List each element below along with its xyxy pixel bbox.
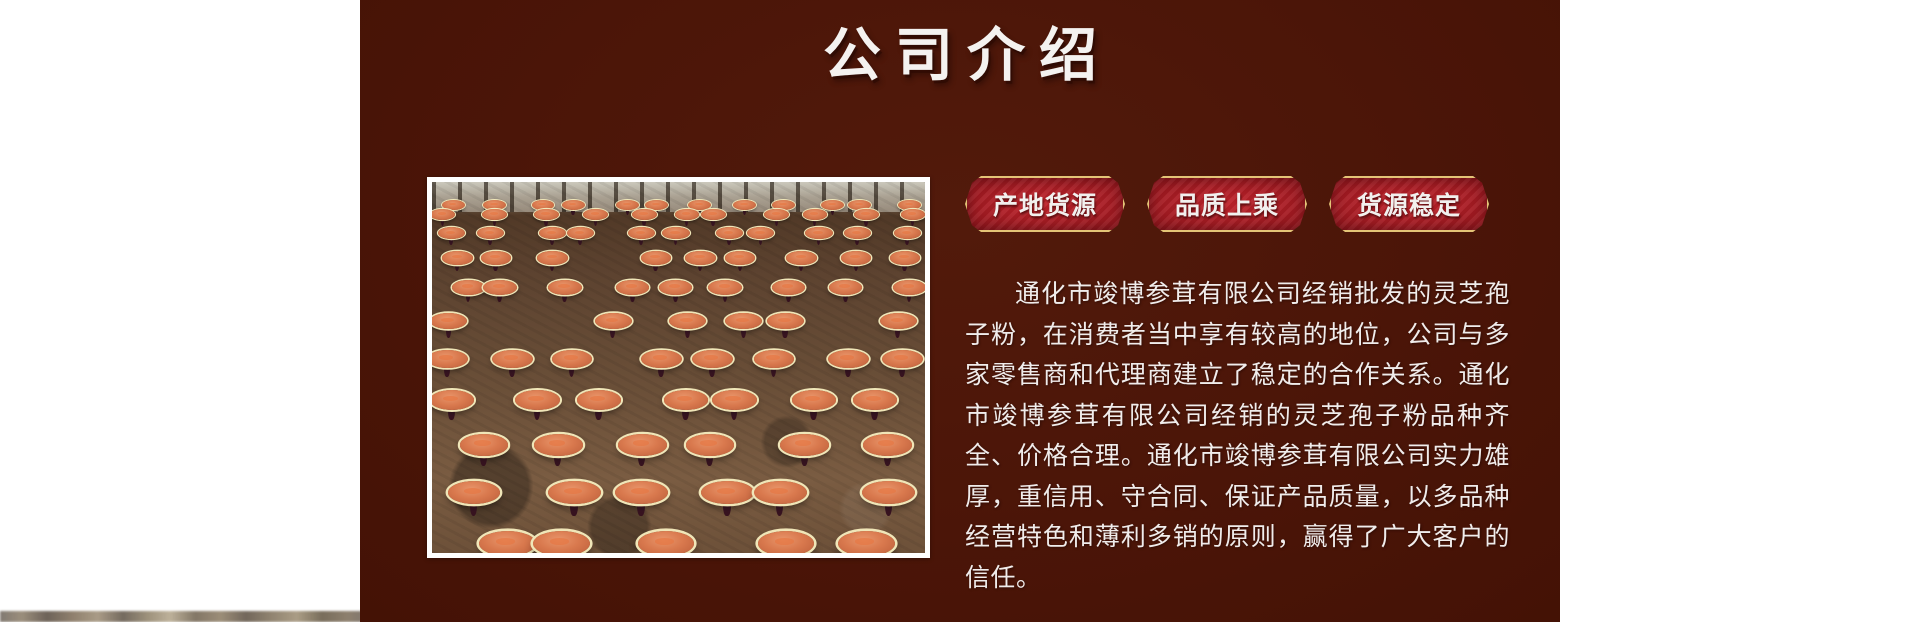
mushroom-cap [483,280,517,295]
mushroom-cap [716,227,743,239]
page-root: 公司介绍 产地货源 品质上乘 [0,0,1920,622]
badge-bracket-left-icon [1133,176,1149,232]
mushroom-cap [595,313,632,329]
mushroom-caps [432,182,925,553]
mushroom-cap [448,481,501,504]
mushroom-cap [638,531,695,553]
feature-badge-label: 产地货源 [993,186,1097,222]
mushroom-cap [438,227,465,239]
mushroom-cap [567,227,594,239]
mushroom-cap [854,209,879,220]
mushroom-cap [725,251,755,264]
company-intro-paragraph: 通化市竣博参茸有限公司经销批发的灵芝孢子粉，在消费者当中享有较高的地位，公司与多… [965,274,1510,598]
company-intro-panel: 公司介绍 产地货源 品质上乘 [360,0,1560,622]
mushroom-cap [758,531,815,553]
badge-bracket-left-icon [1315,176,1331,232]
mushroom-cap [664,390,709,410]
mushroom-cap [882,350,923,368]
mushroom-cap [692,350,733,368]
mushroom-cap [853,390,898,410]
mushroom-cap [552,350,593,368]
mushroom-cap [534,209,559,220]
mushroom-cap [890,251,920,264]
mushroom-cap [863,434,912,455]
mushroom-cap [754,350,795,368]
mushroom-cap [618,434,667,455]
photo-frame [427,177,930,558]
mushroom-cap [747,227,774,239]
mushroom-cap [628,227,655,239]
mushroom-cap [893,280,925,295]
mushroom-cap [537,251,567,264]
feature-badge-2[interactable]: 货源稳定 [1329,176,1489,232]
mushroom-cap [780,434,829,455]
mushroom-cap [828,350,869,368]
feature-badge-1[interactable]: 品质上乘 [1147,176,1307,232]
mushroom-cap [577,390,622,410]
mushroom-cap [442,251,472,264]
bottom-image-strip [0,611,362,622]
mushroom-cap [701,481,754,504]
mushroom-cap [675,209,700,220]
mushroom-cap [792,390,837,410]
mushroom-cap [616,280,650,295]
mushroom-cap [772,280,806,295]
mushroom-cap [632,209,657,220]
badge-bracket-left-icon [951,176,967,232]
mushroom-cap [733,200,756,210]
mushroom-cap [701,209,726,220]
mushroom-cap [482,209,507,220]
mushroom-cap [583,209,608,220]
mushroom-cap [548,280,582,295]
mushroom-cap [844,227,871,239]
mushroom-cap [712,390,757,410]
mushroom-cap [432,390,474,410]
mushroom-cap [641,251,671,264]
mushroom-cap [805,227,832,239]
mushroom-cap [492,350,533,368]
mushroom-cap [686,434,735,455]
mushroom-cap [821,200,844,210]
page-title: 公司介绍 [809,24,1111,88]
mushroom-cap [708,280,742,295]
mushroom-cap [838,531,895,553]
mushroom-cap [659,280,693,295]
mushroom-cap [754,481,807,504]
right-column: 产地货源 品质上乘 货源稳定 通化市竣博参茸有限公司经销批发的灵芝孢子粉，在消费… [965,176,1510,598]
mushroom-cap [562,200,585,210]
mushroom-cap [432,313,467,329]
lingzhi-mushroom-farm-photo [432,182,925,553]
mushroom-cap [533,531,590,553]
mushroom-cap [452,280,486,295]
page-title-wrapper: 公司介绍 [360,24,1560,88]
mushroom-cap [432,209,455,220]
mushroom-cap [841,251,871,264]
feature-badge-0[interactable]: 产地货源 [965,176,1125,232]
mushroom-cap [803,209,828,220]
feature-badge-list: 产地货源 品质上乘 货源稳定 [965,176,1510,232]
mushroom-cap [432,350,468,368]
mushroom-cap [685,251,715,264]
mushroom-cap [862,481,915,504]
feature-badge-label: 品质上乘 [1175,186,1279,222]
mushroom-cap [880,313,917,329]
mushroom-cap [616,200,639,210]
mushroom-cap [515,390,560,410]
mushroom-cap [829,280,863,295]
mushroom-cap [481,251,511,264]
mushroom-cap [767,313,804,329]
mushroom-cap [786,251,816,264]
mushroom-cap [641,350,682,368]
mushroom-cap [479,531,536,553]
mushroom-cap [539,227,566,239]
mushroom-cap [477,227,504,239]
mushroom-cap [548,481,601,504]
feature-badge-label: 货源稳定 [1357,186,1461,222]
mushroom-cap [894,227,921,239]
mushroom-cap [669,313,706,329]
mushroom-cap [615,481,668,504]
mushroom-cap [725,313,762,329]
mushroom-cap [460,434,509,455]
mushroom-cap [901,209,925,220]
mushroom-cap [534,434,583,455]
mushroom-cap [764,209,789,220]
mushroom-cap [662,227,689,239]
